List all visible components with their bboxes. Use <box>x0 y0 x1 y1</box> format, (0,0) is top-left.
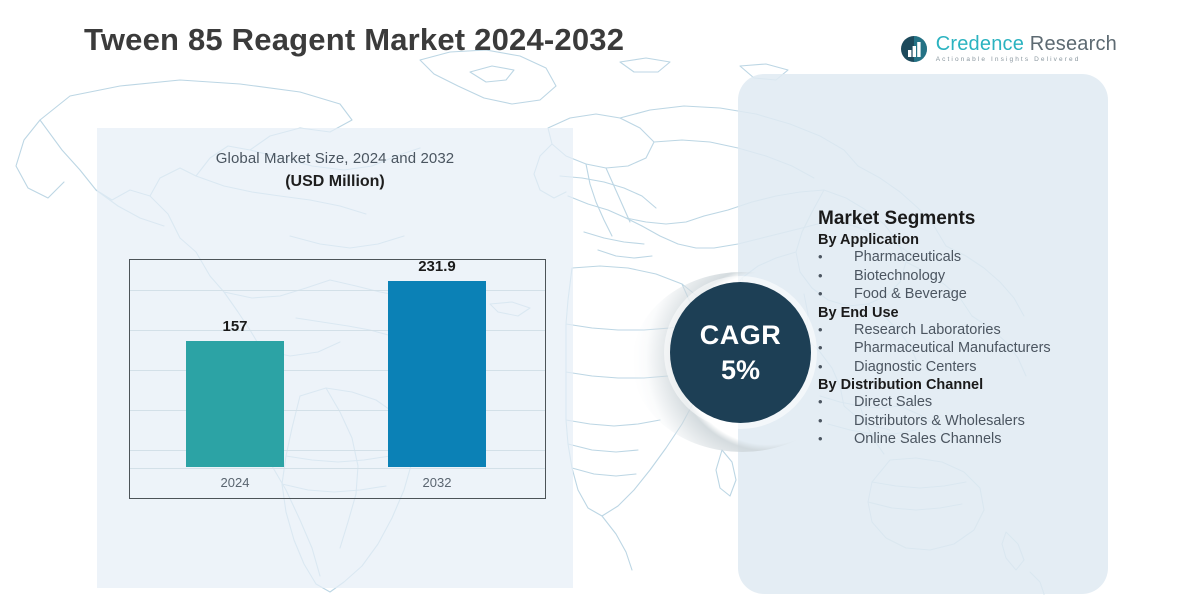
segment-item-label: Distributors & Wholesalers <box>854 412 1108 431</box>
chart-subtitle: (USD Million) <box>97 173 573 191</box>
bullet-icon: • <box>818 248 854 266</box>
bullet-icon: • <box>818 412 854 430</box>
brand-name-primary: Credence <box>936 33 1024 55</box>
segment-item-label: Diagnostic Centers <box>854 358 1108 377</box>
bar-value-2032: 231.9 <box>388 258 486 275</box>
infographic-canvas: Tween 85 Reagent Market 2024-2032 Creden… <box>0 0 1187 607</box>
page-title: Tween 85 Reagent Market 2024-2032 <box>84 22 624 58</box>
segment-item-label: Pharmaceutical Manufacturers <box>854 339 1108 358</box>
list-item: • Food & Beverage <box>818 285 1108 304</box>
gridline-baseline <box>130 468 545 469</box>
bullet-icon: • <box>818 358 854 376</box>
list-item: • Diagnostic Centers <box>818 358 1108 377</box>
brand-name: Credence Research <box>936 33 1117 55</box>
brand-tagline: Actionable Insights Delivered <box>936 57 1117 64</box>
segments-title: Market Segments <box>818 208 1108 230</box>
bullet-icon: • <box>818 321 854 339</box>
bullet-icon: • <box>818 339 854 357</box>
chart-heading: Global Market Size, 2024 and 2032 (USD M… <box>97 150 573 191</box>
bullet-icon: • <box>818 267 854 285</box>
axis-label-2024: 2024 <box>176 475 294 490</box>
cagr-value: 5% <box>721 357 760 384</box>
brand-name-secondary: Research <box>1024 33 1117 55</box>
bar-chart-circle-icon <box>900 35 928 63</box>
list-item: • Research Laboratories <box>818 321 1108 340</box>
segment-item-label: Online Sales Channels <box>854 430 1108 449</box>
bar-chart-plot: 157 231.9 2024 2032 <box>129 259 546 499</box>
bullet-icon: • <box>818 393 854 411</box>
bullet-icon: • <box>818 430 854 448</box>
segment-item-label: Biotechnology <box>854 267 1108 286</box>
bar-2032 <box>388 281 486 467</box>
chart-title: Global Market Size, 2024 and 2032 <box>97 150 573 167</box>
list-item: • Online Sales Channels <box>818 430 1108 449</box>
brand-logo: Credence Research Actionable Insights De… <box>900 34 1117 64</box>
list-item: • Biotechnology <box>818 267 1108 286</box>
cagr-badge: CAGR 5% <box>670 282 811 423</box>
segment-group-title-distribution: By Distribution Channel <box>818 377 1108 393</box>
axis-label-2032: 2032 <box>378 475 496 490</box>
list-item: • Direct Sales <box>818 393 1108 412</box>
segment-item-label: Pharmaceuticals <box>854 248 1108 267</box>
list-item: • Distributors & Wholesalers <box>818 412 1108 431</box>
market-segments: Market Segments By Application • Pharmac… <box>818 208 1108 449</box>
segment-group-title-application: By Application <box>818 232 1108 248</box>
bar-2024 <box>186 341 284 467</box>
list-item: • Pharmaceuticals <box>818 248 1108 267</box>
cagr-label: CAGR <box>700 322 782 349</box>
segment-item-label: Research Laboratories <box>854 321 1108 340</box>
segment-group-title-end-use: By End Use <box>818 305 1108 321</box>
bullet-icon: • <box>818 285 854 303</box>
segment-item-label: Food & Beverage <box>854 285 1108 304</box>
bar-value-2024: 157 <box>186 318 284 335</box>
list-item: • Pharmaceutical Manufacturers <box>818 339 1108 358</box>
segment-item-label: Direct Sales <box>854 393 1108 412</box>
